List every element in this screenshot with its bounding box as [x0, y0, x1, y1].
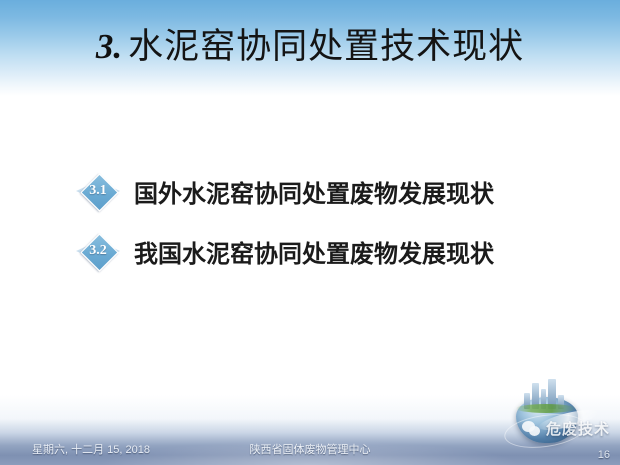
grass-band-icon	[516, 404, 576, 413]
list-item-label: 国外水泥窑协同处置废物发展现状	[134, 174, 494, 209]
brand-logo: 危废技术	[486, 377, 616, 457]
slide-title-number: 3.	[96, 27, 122, 66]
badge-label: 3.2	[76, 242, 120, 260]
slide-title-text: 水泥窑协同处置技术现状	[128, 27, 524, 67]
list-item[interactable]: 3.2 我国水泥窑协同处置废物发展现状	[76, 228, 576, 274]
badge-label: 3.1	[76, 182, 120, 200]
list-item-label: 我国水泥窑协同处置废物发展现状	[134, 234, 494, 269]
list-item[interactable]: 3.1 国外水泥窑协同处置废物发展现状	[76, 168, 576, 214]
slide-title: 3.水泥窑协同处置技术现状	[0, 18, 620, 69]
watermark: 危废技术	[522, 418, 610, 439]
watermark-text: 危废技术	[546, 418, 610, 439]
wechat-icon	[522, 421, 541, 437]
diamond-badge-icon: 3.1	[76, 175, 120, 207]
diamond-badge-icon: 3.2	[76, 235, 120, 267]
agenda-list: 3.1 国外水泥窑协同处置废物发展现状 3.2 我国水泥窑协同处置废物发展现状	[76, 168, 576, 288]
presentation-slide: 3.水泥窑协同处置技术现状 3.1 国外水泥窑协同处置废物发展现状 3.2 我国…	[0, 0, 620, 465]
